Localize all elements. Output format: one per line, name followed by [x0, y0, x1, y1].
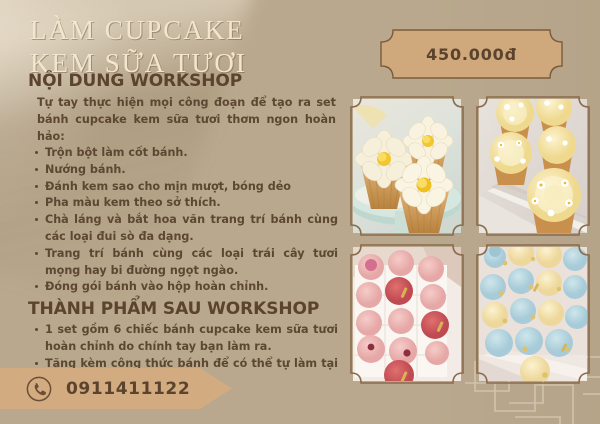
list-item: Trộn bột làm cốt bánh. — [34, 145, 338, 162]
photo-frame — [350, 96, 464, 236]
price-badge: 450.000đ — [380, 29, 563, 79]
photo-frame — [476, 96, 590, 236]
workshop-content: NỘI DUNG WORKSHOP Tự tay thực hiện mọi c… — [20, 68, 340, 389]
list-item: Nướng bánh. — [34, 162, 338, 179]
photo-frame — [476, 244, 590, 384]
photo-frame — [350, 244, 464, 384]
phone-number: 0911411122 — [66, 379, 190, 399]
bullet-list-noi-dung: Trộn bột làm cốt bánh. Nướng bánh. Đánh … — [34, 145, 338, 296]
photo-cell-cream-swirl-cupcakes[interactable] — [476, 96, 590, 236]
photo-grid — [350, 96, 590, 384]
list-item: Đóng gói bánh vào hộp hoàn chỉnh. — [34, 279, 338, 296]
list-item: 1 set gồm 6 chiếc bánh cupcake kem sữa t… — [34, 322, 338, 356]
list-item: Chà láng và bắt hoa văn trang trí bánh c… — [34, 212, 338, 246]
photo-cell-pink-cupcakes[interactable] — [350, 244, 464, 384]
section-intro-noi-dung: Tự tay thực hiện mọi công đoạn để tạo ra… — [37, 94, 336, 145]
list-item: Đánh kem sao cho mịn mượt, bóng dẻo — [34, 179, 338, 196]
title-line-1: LÀM CUPCAKE — [30, 14, 340, 47]
poster-canvas: LÀM CUPCAKE KEM SỮA TƯƠI 450.000đ — [0, 0, 600, 424]
photo-cell-daisy-cupcakes[interactable] — [350, 96, 464, 236]
phone-banner[interactable]: 0911411122 — [0, 368, 232, 409]
phone-icon — [26, 376, 52, 402]
list-item: Trang trí bánh cùng các loại trái cây tư… — [34, 246, 338, 280]
section-heading-noi-dung: NỘI DUNG WORKSHOP — [28, 71, 340, 91]
section-heading-thanh-pham: THÀNH PHẨM SAU WORKSHOP — [28, 299, 340, 319]
photo-cell-blue-cream-cupcakes[interactable] — [476, 244, 590, 384]
price-value: 450.000đ — [380, 29, 563, 79]
list-item: Pha màu kem theo sở thích. — [34, 195, 338, 212]
